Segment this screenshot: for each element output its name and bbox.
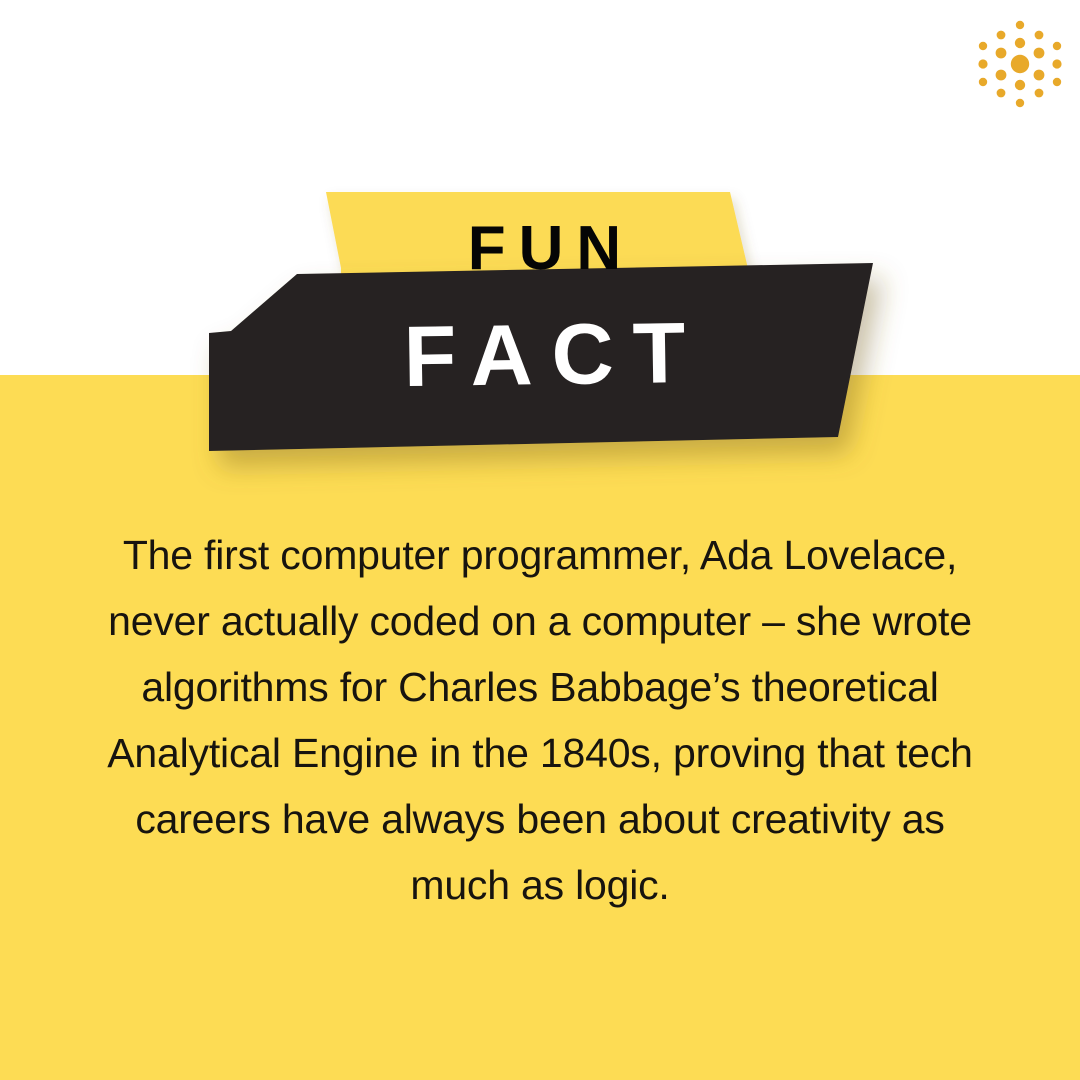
fact-body-text: The first computer programmer, Ada Lovel…: [50, 522, 1030, 918]
fun-fact-card: FUN FACT The first computer programmer, …: [0, 0, 1080, 1080]
fact-line: much as logic.: [50, 852, 1030, 918]
fact-line: never actually coded on a computer – she…: [50, 588, 1030, 654]
banner-word-fact: FACT: [13, 304, 1080, 405]
fact-line: careers have always been about creativit…: [50, 786, 1030, 852]
fact-line: algorithms for Charles Babbage’s theoret…: [50, 654, 1030, 720]
banner-word-fun: FUN: [11, 218, 1080, 280]
fact-line: The first computer programmer, Ada Lovel…: [50, 522, 1030, 588]
fact-line: Analytical Engine in the 1840s, proving …: [50, 720, 1030, 786]
